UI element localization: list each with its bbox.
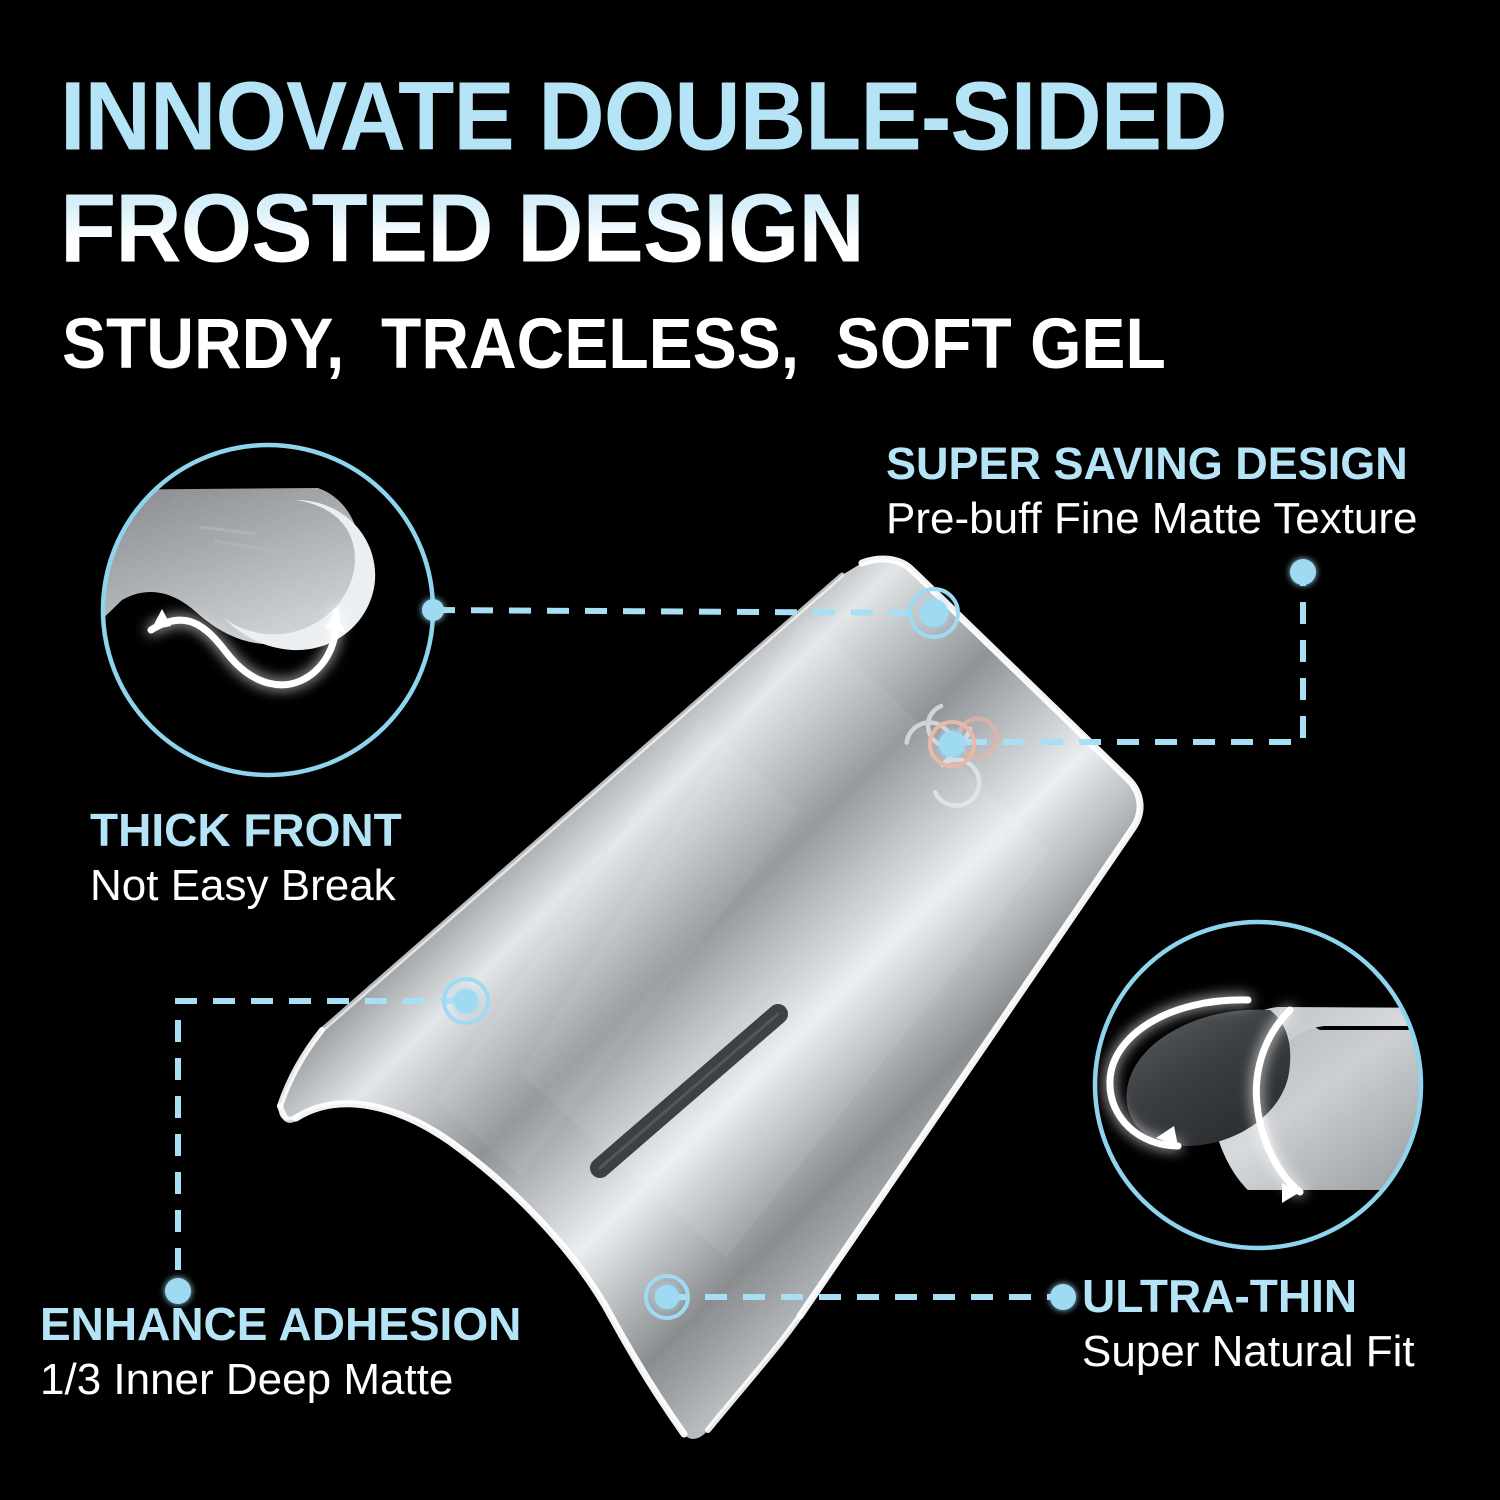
callout-thick-front: THICK FRONT Not Easy Break	[90, 806, 402, 911]
infographic-canvas: INNOVATE DOUBLE-SIDED FROSTED DESIGN STU…	[0, 0, 1500, 1500]
connector-thick-front	[433, 610, 928, 613]
callout-ultra-thin: ULTRA-THIN Super Natural Fit	[1082, 1272, 1415, 1377]
dot-label-super-saving	[1290, 559, 1316, 585]
callout-title: THICK FRONT	[90, 806, 402, 854]
headline-line-1: INNOVATE DOUBLE-SIDED	[60, 68, 1480, 166]
callout-title: SUPER SAVING DESIGN	[886, 440, 1418, 487]
callout-subtitle: Not Easy Break	[90, 862, 402, 910]
dot-label-ultra-thin	[1050, 1284, 1076, 1310]
connector-enhance-adhesion	[178, 1001, 463, 1288]
anchor-dot-top-corner	[910, 589, 958, 637]
callout-title: ENHANCE ADHESION	[40, 1300, 521, 1348]
headline-block: INNOVATE DOUBLE-SIDED FROSTED DESIGN	[60, 68, 1480, 272]
callout-super-saving-design: SUPER SAVING DESIGN Pre-buff Fine Matte …	[886, 440, 1418, 544]
callout-subtitle: 1/3 Inner Deep Matte	[40, 1356, 521, 1404]
callout-subtitle: Pre-buff Fine Matte Texture	[886, 495, 1418, 543]
connector-super-saving	[965, 575, 1303, 742]
callout-enhance-adhesion: ENHANCE ADHESION 1/3 Inner Deep Matte	[40, 1300, 521, 1405]
callout-title: ULTRA-THIN	[1082, 1272, 1415, 1320]
dot-ring-thick-front	[422, 599, 444, 621]
headline-line-2: FROSTED DESIGN	[60, 180, 1480, 278]
callout-subtitle: Super Natural Fit	[1082, 1328, 1415, 1376]
